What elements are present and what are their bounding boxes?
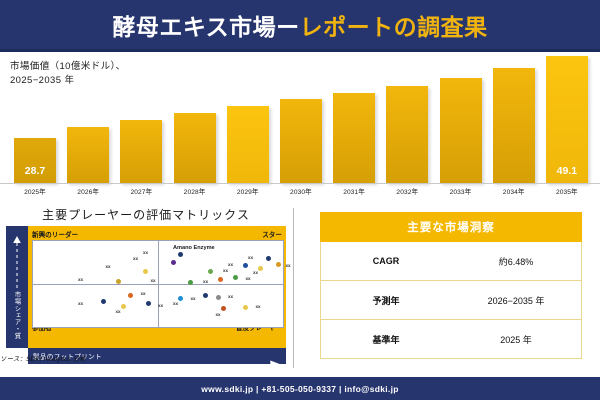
- insight-value: 2025 年: [451, 333, 581, 346]
- bar-column: [280, 56, 322, 183]
- x-axis-tick-label: 2027年: [120, 186, 162, 196]
- evaluation-matrix-panel: 主要プレーヤーの評価マトリックス 市場シェア・質 新興のリーダー スター 参加者…: [0, 204, 292, 373]
- footer-contact-text: www.sdki.jp | +81-505-050-9337 | info@sd…: [201, 384, 398, 394]
- matrix-data-point-label: xx: [246, 276, 251, 281]
- insight-value: 2026−2035 年: [451, 294, 581, 307]
- key-insights-table: 主要な市場洞察 CAGR約6.48%予測年2026−2035 年基準年2025 …: [320, 212, 582, 359]
- chart-bar: 28.7: [14, 138, 56, 183]
- chart-bar: [440, 78, 482, 183]
- x-axis-tick-label: 2030年: [280, 186, 322, 196]
- matrix-data-point: [243, 263, 248, 268]
- matrix-data-point-label: xx: [143, 250, 148, 255]
- matrix-data-point-label: xx: [151, 278, 156, 283]
- matrix-named-player-label: Amano Enzyme: [173, 245, 215, 251]
- matrix-data-point-label: xx: [253, 270, 258, 275]
- matrix-data-point-label: xx: [203, 279, 208, 284]
- x-axis-tick-label: 2029年: [227, 186, 269, 196]
- matrix-data-point-label: xx: [173, 301, 178, 306]
- bar-column: [174, 56, 216, 183]
- key-insights-header: 主要な市場洞察: [320, 212, 582, 242]
- section-divider: [293, 208, 294, 368]
- matrix-data-point: [266, 256, 271, 261]
- x-axis-tick-label: 2032年: [386, 186, 428, 196]
- bar-column: [440, 56, 482, 183]
- matrix-data-point: [143, 269, 148, 274]
- market-value-chart: 市場価値（10億米ドル）、2025−2035 年 28.749.1 2025年2…: [0, 52, 600, 204]
- chart-bar: [280, 99, 322, 183]
- bar-column: [227, 56, 269, 183]
- matrix-data-point-label: xx: [248, 255, 253, 260]
- matrix-y-axis-band: 市場シェア・質: [6, 226, 28, 348]
- matrix-y-axis-label: 市場シェア・質: [7, 284, 27, 346]
- matrix-data-point: [178, 252, 183, 257]
- bar-column: [386, 56, 428, 183]
- matrix-scatter-plot: Amano Enzyme xxxxxxxxxxxxxxxxxxxxxxxxxxx…: [32, 240, 284, 328]
- bar-column: [67, 56, 109, 183]
- quadrant-label-stars: スター: [262, 229, 282, 239]
- matrix-title: 主要プレーヤーの評価マトリックス: [0, 206, 292, 223]
- bar-column: [333, 56, 375, 183]
- insight-key: 予測年: [321, 294, 451, 307]
- chart-x-axis-labels: 2025年2026年2027年2028年2029年2030年2031年2032年…: [14, 186, 588, 196]
- x-axis-tick-label: 2026年: [67, 186, 109, 196]
- chart-bar: [67, 127, 109, 183]
- matrix-data-point-label: xx: [78, 301, 83, 306]
- matrix-data-point: [258, 266, 263, 271]
- insight-row: 基準年2025 年: [320, 320, 582, 359]
- matrix-data-point-label: xx: [106, 264, 111, 269]
- bar-column: [493, 56, 535, 183]
- x-axis-tick-label: 2035年: [546, 186, 588, 196]
- matrix-data-point: [128, 293, 133, 298]
- chart-bar: [386, 86, 428, 183]
- bar-column: 28.7: [14, 56, 56, 183]
- quadrant-label-emerging-leaders: 新興のリーダー: [32, 229, 78, 239]
- matrix-data-point: [208, 269, 213, 274]
- page-title-accent: レポートの調査果: [300, 14, 488, 40]
- chart-bar: [333, 93, 375, 183]
- chart-bar: [120, 120, 162, 183]
- matrix-data-point: [178, 296, 183, 301]
- matrix-data-point-label: xx: [133, 256, 138, 261]
- insight-row: 予測年2026−2035 年: [320, 281, 582, 320]
- matrix-data-point: [276, 262, 281, 267]
- matrix-quadrant-area: 新興のリーダー スター 参加者 普及プレーヤー Amano Enzyme xxx…: [28, 226, 286, 348]
- chart-bar: [174, 113, 216, 183]
- insight-key: CAGR: [321, 256, 451, 266]
- bar-column: 49.1: [546, 56, 588, 183]
- matrix-data-point-label: xx: [191, 296, 196, 301]
- key-insights-rows: CAGR約6.48%予測年2026−2035 年基準年2025 年: [320, 242, 582, 359]
- page-header: 酵母エキス市場ーレポートの調査果: [0, 0, 600, 49]
- matrix-data-point: [101, 299, 106, 304]
- matrix-data-point-label: xx: [158, 303, 163, 308]
- matrix-data-point-label: xx: [256, 304, 261, 309]
- matrix-box: 市場シェア・質 新興のリーダー スター 参加者 普及プレーヤー Amano En…: [6, 226, 286, 348]
- lower-section: 主要プレーヤーの評価マトリックス 市場シェア・質 新興のリーダー スター 参加者…: [0, 204, 600, 373]
- matrix-data-point: [221, 306, 226, 311]
- x-axis-tick-label: 2034年: [493, 186, 535, 196]
- matrix-data-point: [233, 275, 238, 280]
- matrix-horizontal-divider: [33, 284, 283, 285]
- matrix-data-point-label: xx: [78, 277, 83, 282]
- matrix-data-point: [218, 277, 223, 282]
- bar-column: [120, 56, 162, 183]
- matrix-data-point-label: xx: [141, 291, 146, 296]
- matrix-data-point: [121, 304, 126, 309]
- bar-value-label: 49.1: [546, 165, 588, 177]
- matrix-data-point: [188, 280, 193, 285]
- chart-axis-line: [0, 183, 600, 184]
- matrix-data-point-label: xx: [228, 294, 233, 299]
- x-axis-tick-label: 2028年: [174, 186, 216, 196]
- matrix-data-point-label: xx: [116, 309, 121, 314]
- x-axis-tick-label: 2025年: [14, 186, 56, 196]
- matrix-data-point-label: xx: [223, 268, 228, 273]
- matrix-data-point: [203, 293, 208, 298]
- x-axis-tick-label: 2031年: [333, 186, 375, 196]
- bar-value-label: 28.7: [14, 165, 56, 177]
- matrix-data-point: [216, 295, 221, 300]
- matrix-data-point-label: xx: [216, 312, 221, 317]
- chart-bar: 49.1: [546, 56, 588, 183]
- chart-bars: 28.749.1: [14, 56, 588, 183]
- insight-row: CAGR約6.48%: [320, 242, 582, 281]
- page-title: 酵母エキス市場ーレポートの調査果: [112, 8, 487, 42]
- matrix-data-point: [116, 279, 121, 284]
- chart-bar: [493, 68, 535, 183]
- matrix-data-point: [243, 305, 248, 310]
- chart-bar: [227, 106, 269, 183]
- matrix-data-point-label: xx: [286, 263, 291, 268]
- up-arrow-icon: [12, 232, 22, 290]
- insight-value: 約6.48%: [451, 255, 581, 268]
- matrix-data-point: [171, 260, 176, 265]
- matrix-y-axis-label-text: 市場シェア・質: [13, 291, 22, 339]
- page-title-primary: 酵母エキス市場ー: [112, 14, 299, 40]
- right-arrow-icon: [106, 356, 282, 357]
- matrix-data-point-label: xx: [228, 262, 233, 267]
- insight-key: 基準年: [321, 333, 451, 346]
- matrix-data-point: [146, 301, 151, 306]
- x-axis-tick-label: 2033年: [440, 186, 482, 196]
- source-note: ソース：SDKI Analytics 分析: [0, 354, 86, 363]
- page-footer: www.sdki.jp | +81-505-050-9337 | info@sd…: [0, 377, 600, 400]
